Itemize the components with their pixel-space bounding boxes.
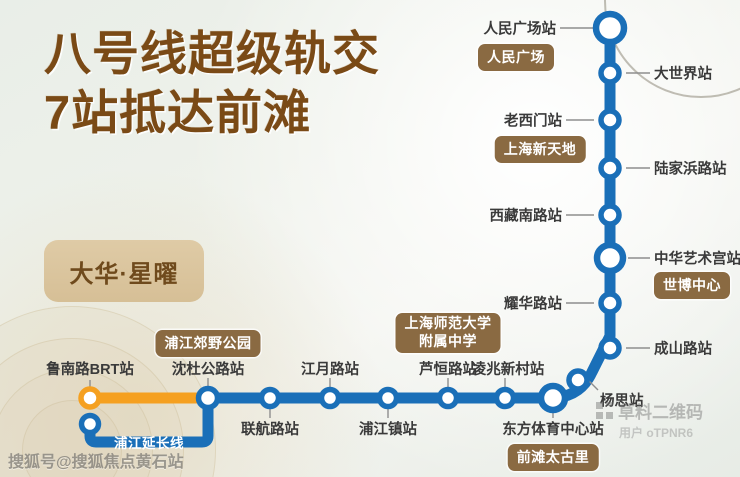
station-marker-dongfang-tiyu-zhongxin <box>541 386 565 410</box>
station-label-zhonghua-yishugong: 中华艺术宫站 <box>654 248 740 269</box>
station-marker-branch-stub <box>82 416 99 433</box>
brand-badge: 大华·星曜 <box>44 240 204 302</box>
station-label-lujiabang-lu: 陆家浜路站 <box>654 158 727 179</box>
station-label-shendu-gonglu: 沈杜公路站 <box>172 358 245 379</box>
badge-shanghai-xintiandi: 上海新天地 <box>495 136 586 163</box>
badge-shishida-line-2: 附属中学 <box>405 333 492 351</box>
station-marker-lianhang-lu <box>262 390 279 407</box>
badge-pujiang-jiaoye-gongyuan: 浦江郊野公园 <box>156 330 261 357</box>
station-marker-pujiang-zhen <box>380 390 397 407</box>
headline-line-2: 7站抵达前滩 <box>44 89 380 137</box>
brand-name: 大华·星曜 <box>70 254 179 289</box>
station-label-pujiang-zhen: 浦江镇站 <box>359 418 417 439</box>
station-label-dongfang-tiyu-zhongxin: 东方体育中心站 <box>502 418 604 439</box>
badge-shishida-line-1: 上海师范大学 <box>405 315 492 333</box>
watermark-bottom-left: 搜狐号@搜狐焦点黄石站 <box>8 448 184 472</box>
watermark-bottom-right: 草料二维码 用户 oTPNR6 <box>596 398 703 441</box>
station-marker-lujiabang-lu <box>601 159 619 177</box>
station-label-dashijie: 大世界站 <box>654 63 712 84</box>
station-marker-lingzhao-xincun <box>497 390 514 407</box>
headline: 八号线超级轨交 7站抵达前滩 <box>44 30 380 137</box>
station-label-jiangyue-lu: 江月路站 <box>301 358 359 379</box>
badge-renmin-guangchang: 人民广场 <box>478 44 554 71</box>
station-label-laoximen: 老西门站 <box>504 110 562 131</box>
station-marker-dashijie <box>601 64 619 82</box>
station-label-lingzhao-xincun: 凌兆新村站 <box>472 358 545 379</box>
station-marker-renmin-guangchang <box>596 14 624 42</box>
station-marker-xizang-nan-lu <box>601 206 619 224</box>
station-marker-lunan-lu-brt <box>81 389 99 407</box>
station-label-luheng-lu: 芦恒路站 <box>419 358 477 379</box>
station-label-yaohua-lu: 耀华路站 <box>504 293 562 314</box>
watermark-qr-title: 草料二维码 <box>618 398 703 423</box>
station-marker-laoximen <box>601 111 619 129</box>
station-marker-zhonghua-yishugong <box>597 245 623 271</box>
station-label-lianhang-lu: 联航路站 <box>241 418 299 439</box>
badge-qiantan-taikooli: 前滩太古里 <box>508 444 599 471</box>
metro-line-poster: 八号线超级轨交 7站抵达前滩 大华·星曜 <box>0 0 740 477</box>
station-marker-luheng-lu <box>440 390 457 407</box>
station-marker-chengshan-lu <box>601 339 619 357</box>
station-marker-shendu-gonglu <box>199 389 218 408</box>
station-marker-yaohua-lu <box>601 294 619 312</box>
badge-shibo-zhongxin: 世博中心 <box>654 272 730 299</box>
station-label-xizang-nan-lu: 西藏南路站 <box>490 205 563 226</box>
station-label-lunan-lu-brt: 鲁南路BRT站 <box>46 358 134 379</box>
station-label-renmin-guangchang: 人民广场站 <box>484 18 557 39</box>
qr-code-icon <box>596 402 613 419</box>
watermark-qr-user: 用户 oTPNR6 <box>619 424 703 441</box>
station-marker-jiangyue-lu <box>322 390 339 407</box>
station-label-chengshan-lu: 成山路站 <box>654 338 712 359</box>
station-marker-yangsi <box>569 371 587 389</box>
badge-shishida-fuzhong: 上海师范大学 附属中学 <box>396 313 501 353</box>
headline-line-1: 八号线超级轨交 <box>44 30 380 78</box>
